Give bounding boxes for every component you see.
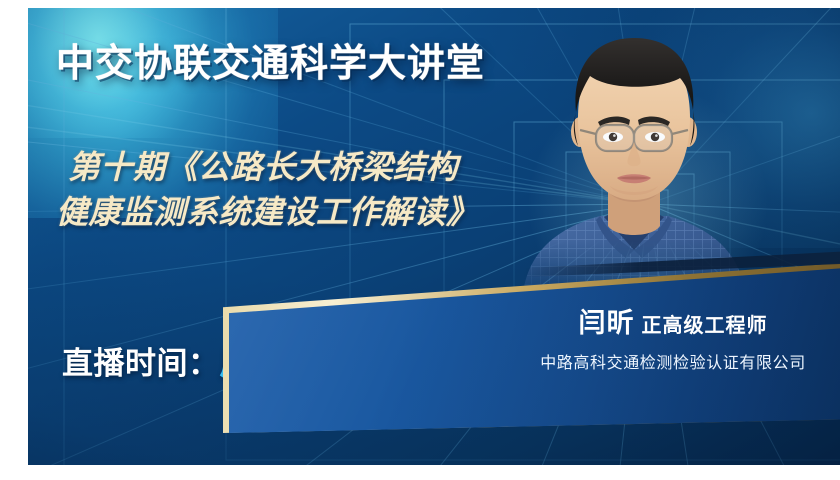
corner-glow-right — [630, 8, 840, 248]
speaker-info-panel: 闫昕正高级工程师 中路高科交通检测检验认证有限公司 — [223, 263, 840, 433]
speaker-text-block: 闫昕正高级工程师 中路高科交通检测检验认证有限公司 — [523, 301, 823, 373]
episode-subtitle-line-2: 健康监测系统建设工作解读》 — [56, 190, 598, 235]
webinar-poster: 中交协联交通科学大讲堂 第十期《公路长大桥梁结构 健康监测系统建设工作解读》 直… — [28, 8, 840, 465]
episode-subtitle-line-1: 第十期《公路长大桥梁结构 — [68, 149, 458, 185]
live-time-label: 直播时间： — [62, 346, 220, 381]
speaker-name: 闫昕 — [579, 308, 635, 338]
speaker-company: 中路高科交通检测检验认证有限公司 — [523, 349, 823, 373]
page-title: 中交协联交通科学大讲堂 — [56, 32, 485, 87]
speaker-title: 正高级工程师 — [642, 315, 768, 337]
speaker-name-row: 闫昕正高级工程师 — [523, 301, 823, 340]
episode-subtitle: 第十期《公路长大桥梁结构 健康监测系统建设工作解读》 — [68, 145, 598, 236]
